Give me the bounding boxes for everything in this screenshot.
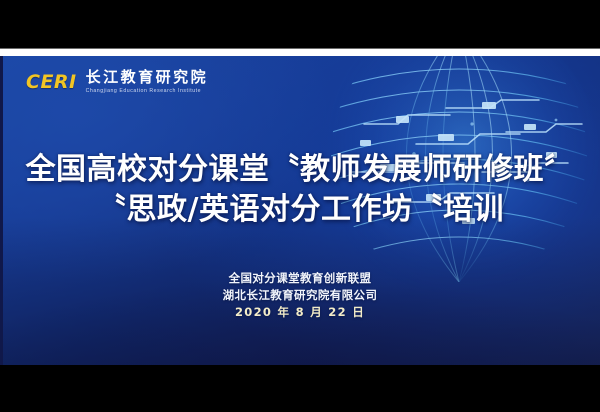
ceri-logo-mark: CERI [26,70,77,92]
slide-left-edge-gutter [0,56,3,365]
slide-footer: 全国对分课堂教育创新联盟 湖北长江教育研究院有限公司 2020 年 8 月 22… [0,270,600,321]
footer-date: 2020 年 8 月 22 日 [0,304,600,321]
ceri-logo-text: 长江教育研究院 Changjiang Education Research In… [86,70,209,94]
footer-company: 湖北长江教育研究院有限公司 [0,287,600,304]
ceri-logo-name-cn: 长江教育研究院 [86,70,209,86]
top-white-strip [0,49,600,56]
presentation-slide: CERI 长江教育研究院 Changjiang Education Resear… [0,56,600,365]
ceri-logo: CERI 长江教育研究院 Changjiang Education Resear… [26,70,208,94]
footer-organizer: 全国对分课堂教育创新联盟 [0,270,600,287]
slide-title: 全国高校对分课堂〝教师发展师研修班〞 〝思政/英语对分工作坊〝培训 [0,150,600,230]
slide-title-line-2: 〝思政/英语对分工作坊〝培训 [0,190,600,230]
slide-title-line-1: 全国高校对分课堂〝教师发展师研修班〞 [0,150,600,190]
video-player-frame: CERI 长江教育研究院 Changjiang Education Resear… [0,0,600,412]
ceri-logo-name-en: Changjiang Education Research Institute [86,89,209,94]
